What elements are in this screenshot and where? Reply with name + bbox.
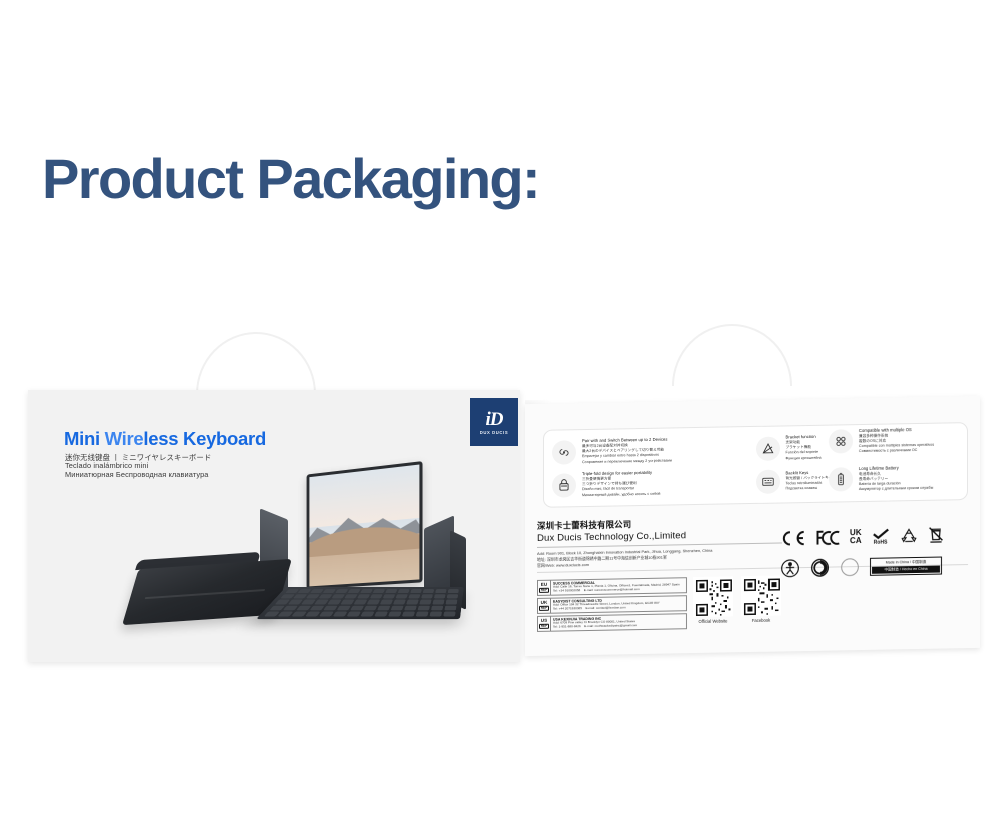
- triman-mark-icon: [780, 557, 800, 579]
- certification-row-1: UKCA RoHS: [780, 524, 970, 549]
- feature-pairing: Pair with and Switch Between up to 2 Dev…: [548, 432, 752, 469]
- contact-email: E-mail: contact@lexxbar.com: [585, 606, 625, 611]
- dux-ducis-logo-badge: iD DUX DUCIS: [470, 398, 518, 446]
- qr-facebook-label: Facebook: [741, 617, 781, 623]
- product-title: Mini Wireless Keyboard: [64, 428, 266, 450]
- product-title-part3: less Keyboard: [143, 428, 266, 449]
- feature-multi-os-text: Compatible with multiple OS 兼容多种操作系统 複数の…: [859, 427, 934, 455]
- qr-facebook[interactable]: [741, 575, 781, 616]
- contact-tel-email: Tel: 1-951-880-8426 E-mail: methwackediy…: [553, 624, 637, 629]
- contact-body: EASYDIST CONSULTING LTD Add: Office 104 …: [551, 597, 662, 613]
- contact-block-uk: UK REP EASYDIST CONSULTING LTD Add: Offi…: [537, 595, 687, 614]
- contact-body: USA KEXINJIA TRADING INC Add: 6709 Pine …: [551, 615, 639, 631]
- tablet-device: [307, 461, 423, 589]
- key-row: [280, 594, 458, 598]
- key-row: [264, 611, 456, 616]
- packaging-scene: Product Packaging: Mini Wireless Keyboar…: [0, 0, 1000, 819]
- qr-official-website-label: Official Website: [693, 618, 733, 624]
- made-in-china-label: Made in China / 中国制造 中国制造 / Hecho en Chi…: [870, 557, 942, 576]
- pairing-icon: [552, 440, 576, 464]
- contact-email: E-mail: methwackediyainc@gmail.com: [584, 623, 637, 628]
- ukca-mark-icon: UKCA: [850, 526, 862, 548]
- tri-fold-icon: [552, 473, 576, 497]
- green-dot-mark-icon: [810, 557, 830, 579]
- contact-rep-badge: REP: [539, 588, 549, 593]
- box-handle-arc-left: [196, 332, 316, 394]
- key-row: [285, 589, 459, 593]
- brand-name-label: DUX DUCIS: [480, 430, 508, 435]
- key-row: [275, 600, 457, 604]
- unfolded-keyboard: [256, 587, 464, 619]
- rohs-mark-icon: RoHS: [872, 525, 890, 547]
- feature-battery-text: Long Lifetime Battery 电池寿命长久 長寿命バッテリー Ba…: [859, 465, 933, 493]
- qr-official-website-item[interactable]: Official Website: [693, 576, 733, 624]
- contact-code: UK: [541, 600, 548, 605]
- contact-tel-email: Tel: +44 2071930365 E-mail: contact@lexx…: [553, 606, 660, 612]
- product-title-part1: Mini: [64, 428, 105, 449]
- feature-line-ru: Функция кронштейна: [786, 455, 822, 461]
- features-right-column: Compatible with multiple OS 兼容多种操作系统 複数の…: [825, 426, 970, 493]
- contact-tag-us: US REP: [538, 617, 551, 631]
- contact-tag-eu: EU REP: [538, 581, 551, 595]
- contact-email: E-mail: successcommerce@hotmail.com: [584, 587, 640, 592]
- qr-facebook-item[interactable]: Facebook: [741, 575, 781, 623]
- contact-tel: Tel: +44 2071930365: [553, 606, 582, 611]
- recycle-mark-icon: [900, 525, 918, 547]
- feature-line-ru: Сопряжение и переключение между 2 устрой…: [582, 458, 672, 465]
- back-package-box: Pair with and Switch Between up to 2 Dev…: [525, 396, 980, 656]
- feature-tri-fold-text: Triple-fold design for easier portabilit…: [582, 470, 660, 498]
- contact-rep-badge: REP: [539, 624, 549, 629]
- contact-tag-uk: UK REP: [538, 599, 551, 613]
- battery-icon: [829, 467, 853, 491]
- product-title-part2: Wire: [105, 428, 144, 449]
- contact-tel: Tel: +34 910002058: [553, 588, 580, 593]
- certification-marks: UKCA RoHS: [780, 524, 970, 587]
- front-package-box: Mini Wireless Keyboard 迷你无线键盘 丨 ミニワイヤレスキ…: [28, 390, 520, 662]
- made-in-line-2: 中国制造 / Hecho en China: [872, 566, 940, 574]
- feature-bracket-text: Bracket function 支架功能 ブラケット機能 Función de…: [786, 434, 822, 461]
- feature-line-ru: Совместимость с различными ОС: [859, 448, 934, 454]
- ce-mark-icon: [780, 527, 806, 549]
- qr-code-group: Official Website: [693, 575, 781, 624]
- backlit-keys-icon: [756, 469, 780, 493]
- page-title: Product Packaging:: [42, 150, 539, 209]
- feature-line-ru: Миниатюрный дизайн, удобно носить с собо…: [582, 491, 660, 498]
- certification-row-2: Made in China / 中国制造 中国制造 / Hecho en Chi…: [780, 554, 970, 579]
- keyboard-keys: [264, 589, 459, 616]
- feature-tri-fold: Triple-fold design for easier portabilit…: [548, 465, 752, 502]
- contact-code: US: [541, 618, 547, 623]
- fcc-mark-icon: [816, 526, 840, 548]
- contact-tel: Tel: 1-951-880-8426: [553, 624, 581, 629]
- contact-block-eu: EU REP SUCCESS COMMERCIAL Add: Calle 16,…: [537, 577, 687, 596]
- key-row: [270, 605, 457, 610]
- bracket-icon: [756, 436, 780, 460]
- contact-body: SUCCESS COMMERCIAL Add: Calle 16, Torres…: [551, 578, 682, 594]
- qr-official-website[interactable]: [693, 576, 733, 617]
- contact-block-us: US REP USA KEXINJIA TRADING INC Add: 670…: [537, 613, 687, 632]
- point-vert-mark-icon: [840, 556, 860, 578]
- feature-pairing-text: Pair with and Switch Between up to 2 Dev…: [582, 437, 672, 465]
- wallpaper-sky: [309, 465, 419, 528]
- feature-multi-os-block: Compatible with multiple OS 兼容多种操作系统 複数の…: [825, 426, 970, 455]
- dux-ducis-d-icon: iD: [486, 410, 503, 429]
- contact-tel-email: Tel: +34 910002058 E-mail: successcommer…: [553, 588, 680, 594]
- box-handle-arc-right: [672, 324, 792, 386]
- contact-code: EU: [541, 582, 547, 587]
- contact-rep-badge: REP: [539, 606, 549, 611]
- company-info: 深圳卡士蕾科技有限公司 Dux Ducis Technology Co.,Lim…: [537, 515, 782, 568]
- authorized-representatives: EU REP SUCCESS COMMERCIAL Add: Calle 16,…: [537, 577, 687, 634]
- weee-mark-icon: [928, 524, 944, 546]
- feature-battery-block: Long Lifetime Battery 电池寿命长久 長寿命バッテリー Ba…: [825, 464, 970, 493]
- product-photo: [124, 456, 516, 656]
- wallpaper-dunes: [309, 533, 419, 586]
- multi-os-icon: [829, 429, 853, 453]
